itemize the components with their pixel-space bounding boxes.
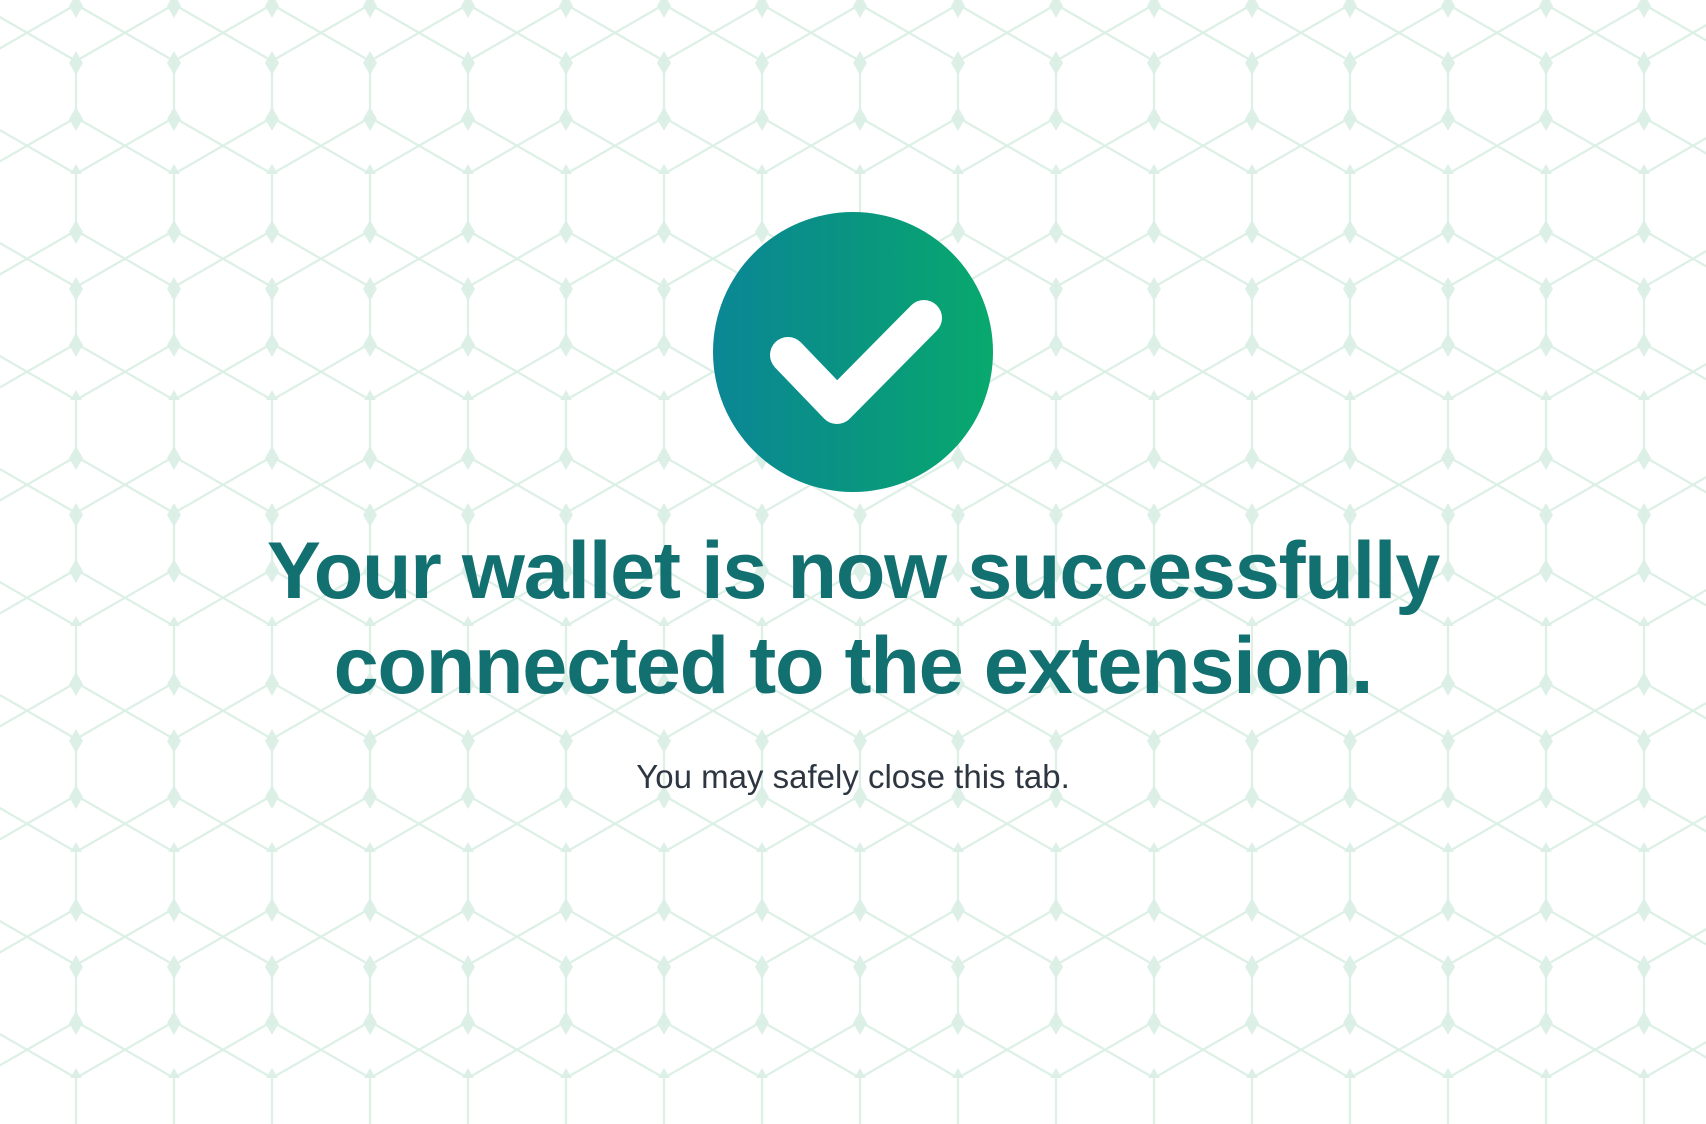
page-subtitle: You may safely close this tab. — [223, 756, 1483, 799]
success-page-content: Your wallet is now successfully connecte… — [0, 0, 1706, 1124]
success-circle-background — [713, 212, 993, 492]
success-check-circle-icon — [713, 212, 993, 492]
page-title: Your wallet is now successfully connecte… — [223, 524, 1483, 714]
